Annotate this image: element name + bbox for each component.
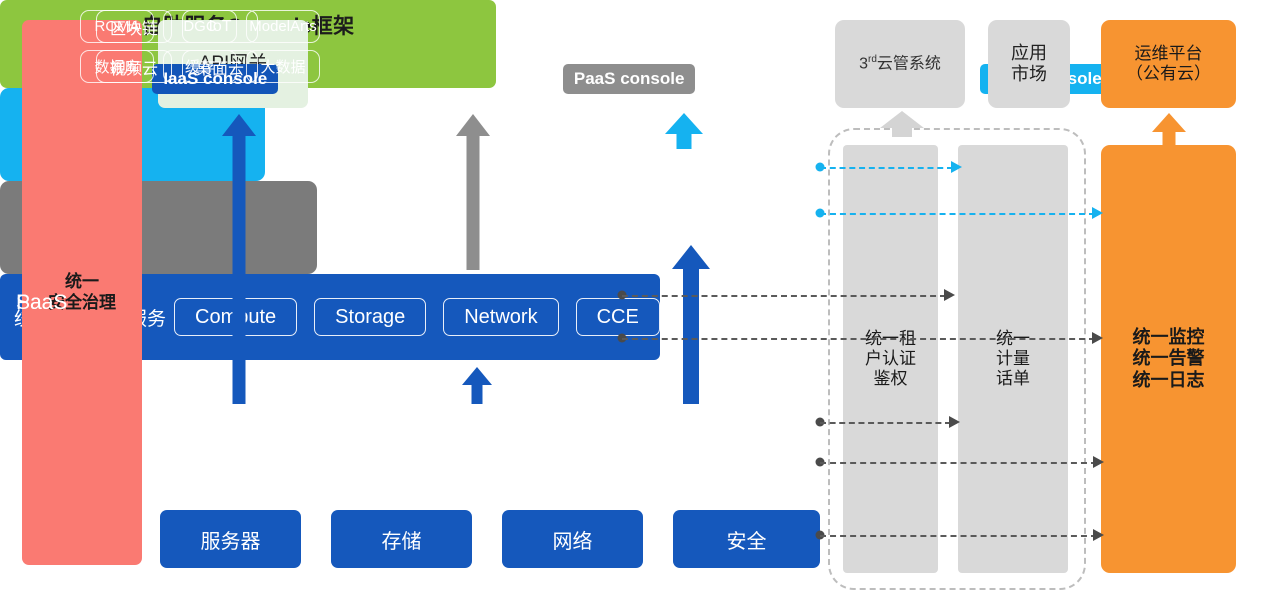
arrow-head-right-icon [944,289,955,301]
paas-service-grid: ROMA DGC ModelArts 数据库 缓存 大数据 [80,10,320,83]
paas-service-roma[interactable]: ROMA [80,10,154,43]
connector-paas-to-metering [622,295,946,297]
arrow-shaft [1163,131,1176,145]
arrow-head-right-icon [1092,332,1103,344]
resource-box-storage[interactable]: 存储 [331,510,472,568]
arrow-shaft [467,134,480,270]
connector-paas-to-ops [622,338,1095,340]
arrow-head-up-icon [880,111,924,128]
arrow-head-up-icon [1152,113,1186,132]
arrow-infra-to-api-gateway [222,114,256,404]
paas-service-modelarts[interactable]: ModelArts [246,10,320,43]
arrow-head-up-icon [456,114,490,136]
infra-service-network[interactable]: Network [443,298,558,336]
connector-resources-to-ops [820,535,1097,537]
arrow-head-up-icon [462,367,492,385]
paas-service-dgc[interactable]: DGC [163,10,237,43]
infra-service-cce[interactable]: CCE [576,298,660,336]
resource-box-network[interactable]: 网络 [502,510,643,568]
unified-monitoring-label: 统一监控 统一告警 统一日志 [1133,327,1205,391]
connector-saas-to-metering [820,167,953,169]
third-party-cloud-management-box: 3rd云管系统 [835,20,965,108]
ops-platform-label: 运维平台 （公有云） [1126,44,1211,84]
unified-monitoring-column: 统一监控 统一告警 统一日志 [1101,145,1236,573]
third-party-cloud-label: 3rd云管系统 [859,54,941,74]
arrow-head-up-icon [672,245,710,269]
arrow-head-up-icon [222,114,256,136]
connector-saas-to-ops [820,213,1095,215]
arrow-shaft [677,133,692,149]
paas-console-pill[interactable]: PaaS console [563,64,696,94]
arrow-infra-to-paas [462,367,492,404]
connector-infra-to-metering [820,422,951,424]
ordinal-suffix: rd [868,54,877,65]
unified-tenant-auth-column: 统一租 户认证 鉴权 [843,145,938,573]
ops-platform-public-cloud-box: 运维平台 （公有云） [1101,20,1236,108]
paas-service-database[interactable]: 数据库 [80,50,154,83]
arrow-shaft [233,134,246,404]
connector-infra-to-ops [820,462,1097,464]
arrow-shaft [683,268,699,404]
arrow-head-right-icon [1093,456,1104,468]
unified-metering-billing-column: 统一 计量 话单 [958,145,1068,573]
arrow-head-right-icon [1093,529,1104,541]
arrow-head-up-icon [665,113,703,134]
paas-service-bigdata[interactable]: 大数据 [246,50,320,83]
infra-service-storage[interactable]: Storage [314,298,426,336]
arrow-paas-to-console [456,114,490,270]
paas-layer-label: PaaS [16,291,67,315]
app-market-label: 应用 市场 [1011,43,1047,85]
arrow-head-right-icon [1092,207,1103,219]
arrow-head-right-icon [951,161,962,173]
arrow-shaft [472,384,483,404]
arrow-platform-to-third-cloud [880,111,924,137]
arrow-head-right-icon [949,416,960,428]
resource-box-security[interactable]: 安全 [673,510,820,568]
arrow-infra-to-saas [672,245,710,404]
architecture-diagram: 统一 安全治理 API网关 自助服务Console框架 IaaS console… [0,0,1265,605]
arrow-saas-to-console [665,113,703,149]
resource-box-server[interactable]: 服务器 [160,510,301,568]
app-market-box: 应用 市场 [988,20,1070,108]
arrow-shaft [892,127,912,137]
arrow-ops-column-to-ops-platform [1152,113,1186,145]
paas-service-cache[interactable]: 缓存 [163,50,237,83]
